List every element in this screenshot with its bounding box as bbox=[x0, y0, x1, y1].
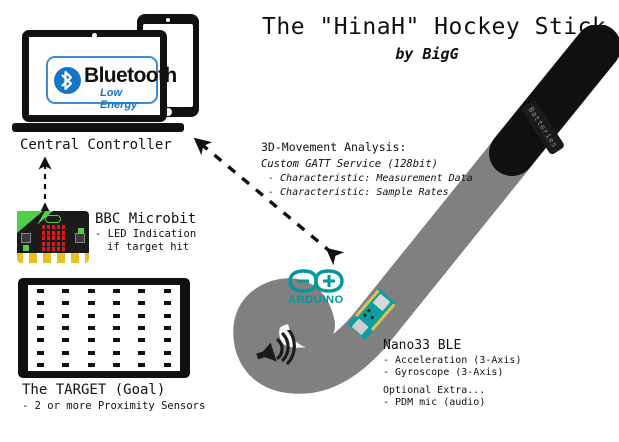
camera-icon bbox=[92, 33, 97, 38]
gatt-characteristic-1: - Characteristic: Measurement Data bbox=[268, 173, 473, 184]
laptop-base bbox=[12, 123, 184, 132]
bluetooth-tagline: Low Energy bbox=[100, 87, 156, 111]
gatt-characteristic-2: - Characteristic: Sample Rates bbox=[268, 187, 449, 198]
bbc-microbit-graphic bbox=[17, 211, 89, 263]
bluetooth-low-energy-badge: Bluetooth Low Energy bbox=[46, 56, 158, 104]
gatt-service-line: Custom GATT Service (128bit) bbox=[261, 158, 438, 170]
page-title: The "HinaH" Hockey Stick bbox=[262, 14, 592, 40]
bluetooth-wordmark: Bluetooth bbox=[84, 64, 177, 88]
nano33-optional-1: - PDM mic (audio) bbox=[383, 397, 485, 408]
goal-net-grid bbox=[28, 285, 180, 371]
goal-label: The TARGET (Goal) bbox=[22, 382, 165, 398]
target-goal-graphic bbox=[18, 278, 190, 378]
microbit-led-matrix bbox=[42, 225, 65, 251]
camera-icon bbox=[166, 18, 170, 22]
microbit-button-a bbox=[21, 233, 31, 243]
bidirectional-dashed-arrow-icon bbox=[30, 155, 60, 217]
page-subtitle: by BigG bbox=[262, 45, 592, 63]
nano33-optional-header: Optional Extra... bbox=[383, 385, 485, 396]
microbit-edge-connector bbox=[17, 253, 89, 263]
microbit-accent bbox=[78, 228, 84, 234]
speaker-sound-icon bbox=[254, 330, 300, 372]
microbit-button-b bbox=[75, 233, 85, 243]
central-controller-label: Central Controller bbox=[20, 137, 172, 153]
nano33-feature-2: - Gyroscope (3-Axis) bbox=[383, 367, 503, 378]
arduino-logo: ARDUINO bbox=[285, 268, 347, 310]
nano33-title: Nano33 BLE bbox=[383, 338, 461, 353]
nano33-feature-1: - Acceleration (3-Axis) bbox=[383, 355, 521, 366]
goal-sublabel: - 2 or more Proximity Sensors bbox=[22, 400, 205, 413]
microbit-accent bbox=[23, 245, 29, 251]
bluetooth-icon bbox=[54, 67, 81, 94]
gatt-section-title: 3D-Movement Analysis: bbox=[261, 140, 406, 154]
arduino-wordmark: ARDUINO bbox=[285, 294, 347, 306]
arduino-infinity-icon bbox=[285, 268, 347, 294]
microbit-logo-icon bbox=[45, 215, 61, 223]
